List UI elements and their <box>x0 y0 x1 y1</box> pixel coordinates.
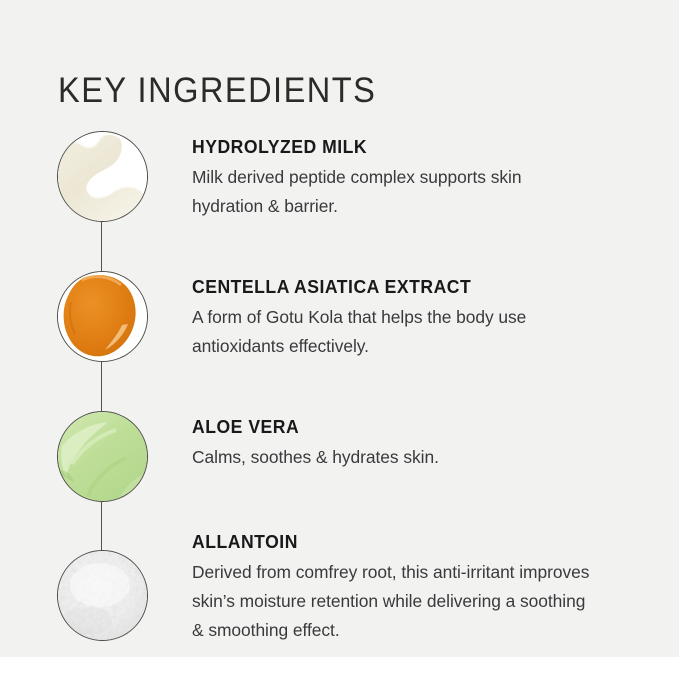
ingredient-copy: ALLANTOIN Derived from comfrey root, thi… <box>192 531 592 645</box>
key-ingredients-panel: KEY INGREDIENTS <box>0 0 679 679</box>
ingredient-description: Calms, soothes & hydrates skin. <box>192 443 592 472</box>
centella-extract-blob-swatch <box>57 271 148 362</box>
ingredient-swatch-centella <box>57 271 148 362</box>
milk-blob-swatch <box>57 131 148 222</box>
ingredient-name: HYDROLYZED MILK <box>192 136 572 158</box>
ingredient-swatch-milk <box>57 131 148 222</box>
ingredient-description: Derived from comfrey root, this anti-irr… <box>192 558 592 645</box>
ingredient-copy: HYDROLYZED MILK Milk derived peptide com… <box>192 136 592 221</box>
bottom-white-strip <box>0 657 679 679</box>
centella-blob-icon <box>58 272 147 361</box>
milk-blob-icon <box>58 132 147 221</box>
ingredient-copy: ALOE VERA Calms, soothes & hydrates skin… <box>192 416 592 472</box>
allantoin-powder-icon <box>58 551 147 640</box>
aloe-gel-icon <box>58 412 147 501</box>
ingredient-description: Milk derived peptide complex supports sk… <box>192 163 592 221</box>
ingredient-swatch-aloe <box>57 411 148 502</box>
ingredient-name: ALOE VERA <box>192 416 572 438</box>
aloe-gel-swatch <box>57 411 148 502</box>
ingredient-swatch-allantoin <box>57 550 148 641</box>
ingredient-name: CENTELLA ASIATICA EXTRACT <box>192 276 572 298</box>
ingredient-name: ALLANTOIN <box>192 531 572 553</box>
ingredient-list: HYDROLYZED MILK Milk derived peptide com… <box>0 0 679 679</box>
ingredient-description: A form of Gotu Kola that helps the body … <box>192 303 592 361</box>
ingredient-copy: CENTELLA ASIATICA EXTRACT A form of Gotu… <box>192 276 592 361</box>
allantoin-powder-swatch <box>57 550 148 641</box>
